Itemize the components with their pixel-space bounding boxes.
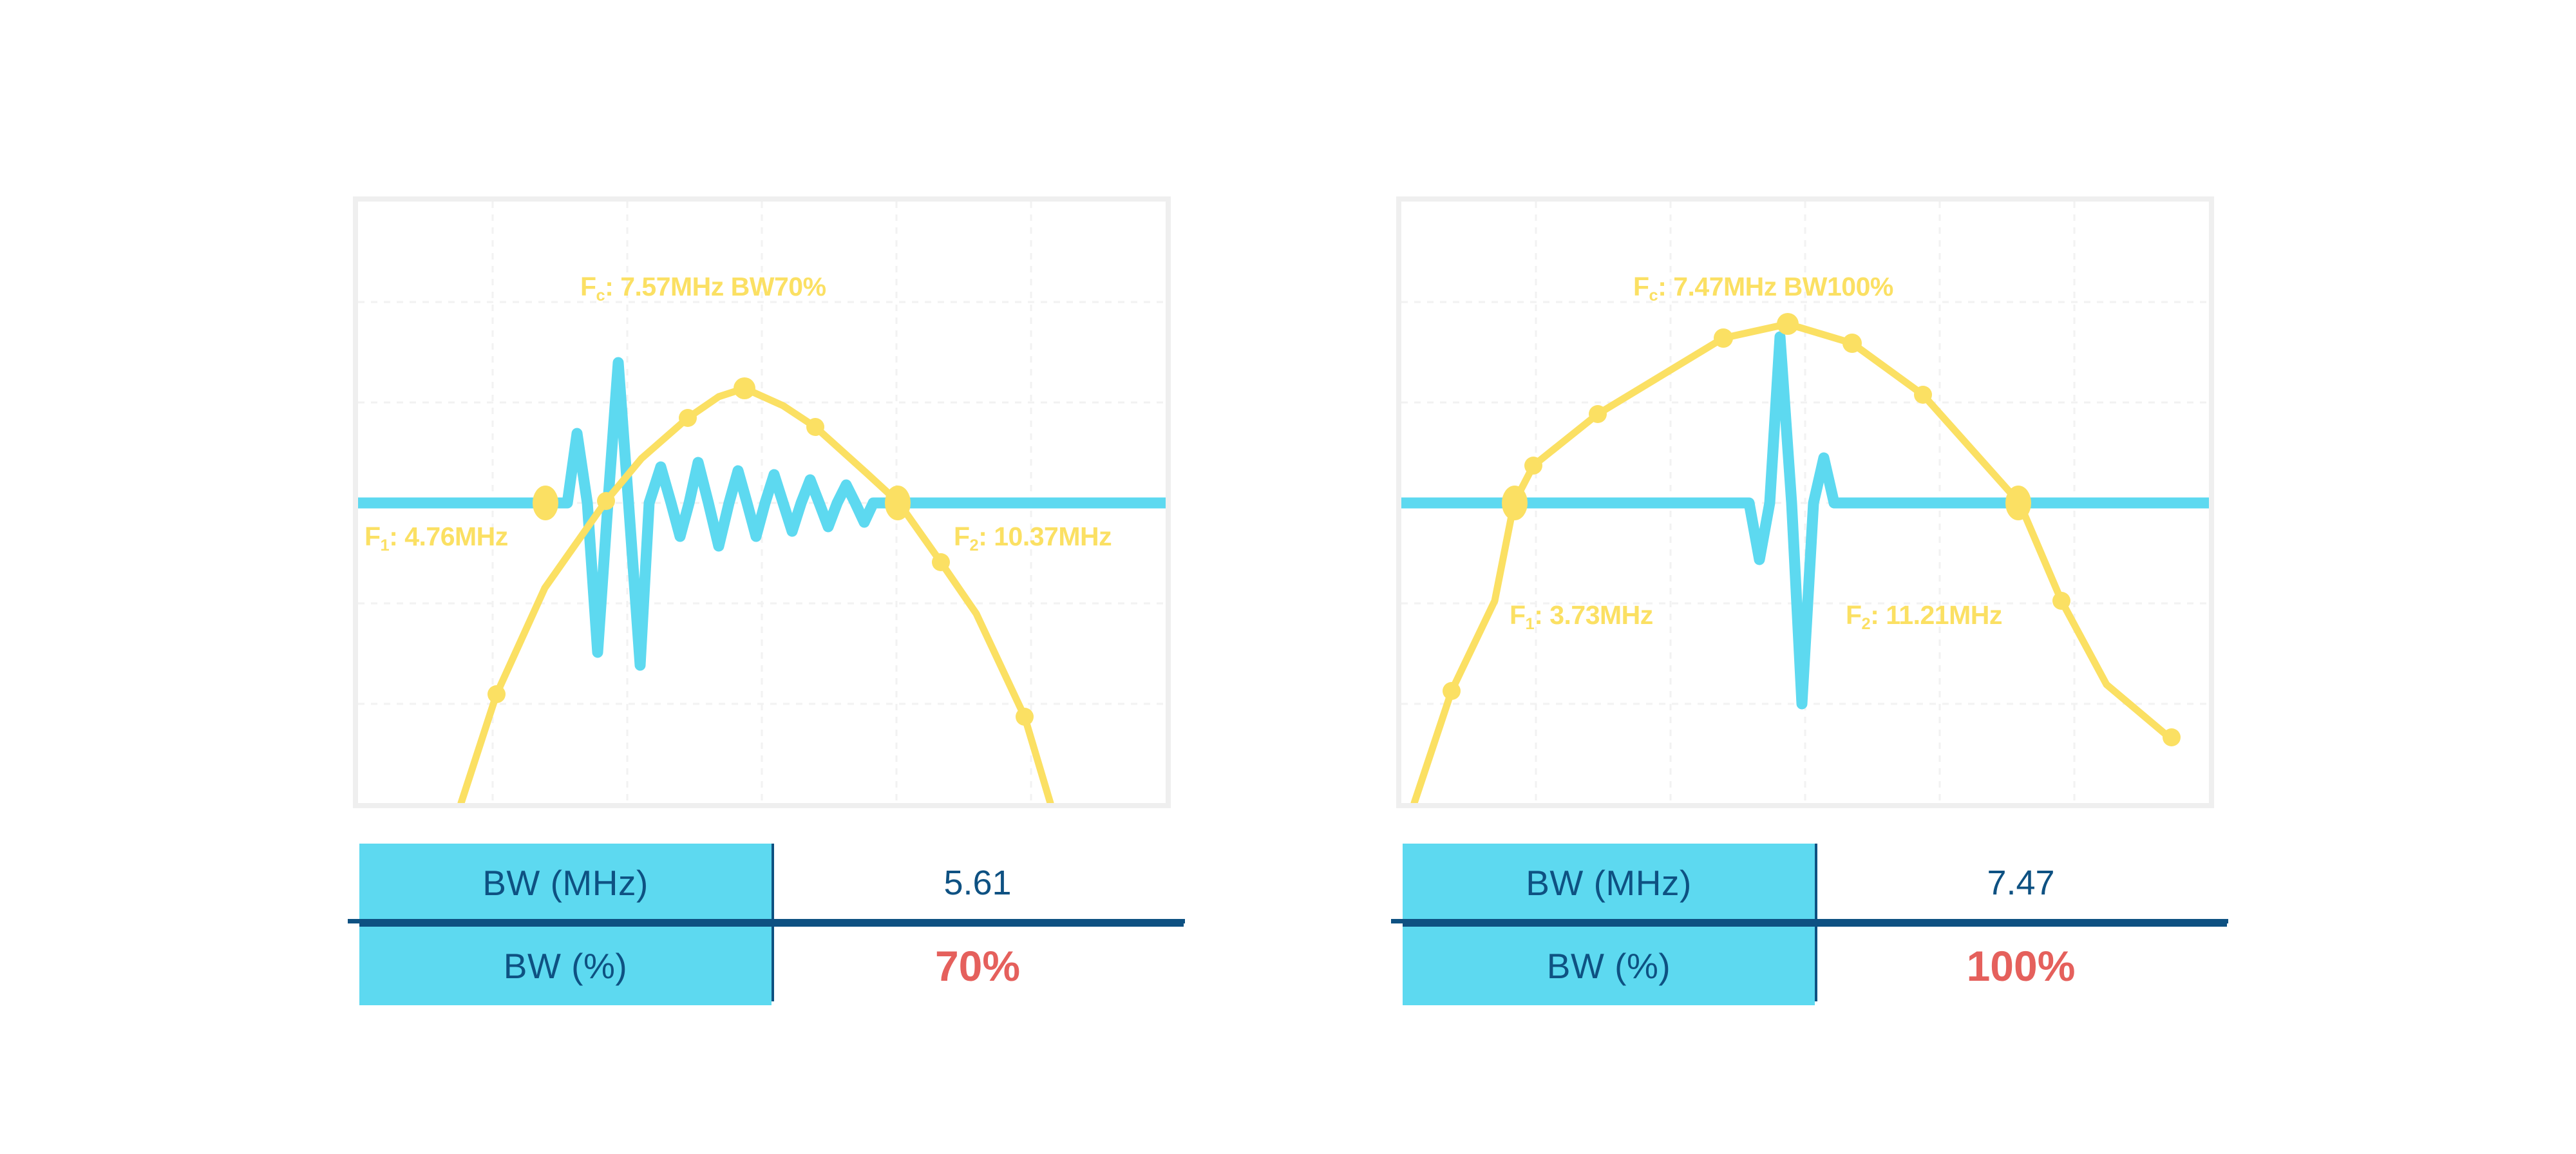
fc-symbol: F (580, 272, 596, 301)
f1-value: : 4.76MHz (389, 522, 508, 551)
bandwidth-comparison-figure: Fc: 7.57MHz BW70% F1: 4.76MHz F2: 10.37M… (0, 0, 2576, 1154)
plot-frame-left: Fc: 7.57MHz BW70% F1: 4.76MHz F2: 10.37M… (353, 196, 1171, 808)
fc-value: : 7.57MHz BW70% (605, 272, 826, 301)
f2-symbol: F (1846, 600, 1862, 630)
f1-value: : 3.73MHz (1534, 600, 1653, 630)
f2-subscript: 2 (970, 536, 979, 554)
annotation-lower-cutoff-left: F1: 4.76MHz (365, 524, 508, 550)
fc-symbol: F (1633, 272, 1649, 301)
bw-mhz-value: 5.61 (772, 844, 1184, 925)
fc-subscript: c (596, 287, 605, 305)
panel-narrowband: Fc: 7.57MHz BW70% F1: 4.76MHz F2: 10.37M… (353, 196, 1171, 808)
annotation-lower-cutoff-right: F1: 3.73MHz (1510, 602, 1653, 629)
f1-symbol: F (1510, 600, 1526, 630)
table-divider-right (1391, 919, 2228, 923)
annotation-center-frequency-left: Fc: 7.57MHz BW70% (580, 274, 826, 300)
fc-subscript: c (1649, 287, 1658, 305)
bw-percent-value: 100% (1815, 925, 2227, 1006)
annotation-upper-cutoff-right: F2: 11.21MHz (1846, 602, 2002, 629)
bw-percent-label: BW (%) (359, 925, 772, 1006)
f2-symbol: F (954, 522, 970, 551)
f1-subscript: 1 (1526, 615, 1535, 633)
spectrum-curve-left (461, 388, 1050, 803)
f2-value: : 11.21MHz (1870, 600, 2002, 630)
bw-percent-label: BW (%) (1403, 925, 1815, 1006)
panel-broadband: Fc: 7.47MHz BW100% F1: 3.73MHz F2: 11.21… (1396, 196, 2214, 808)
bw-mhz-label: BW (MHz) (1403, 844, 1815, 925)
table-column-separator-right (1815, 844, 1817, 1001)
table-divider-left (348, 919, 1185, 923)
bw-percent-value: 70% (772, 925, 1184, 1006)
f2-value: : 10.37MHz (978, 522, 1112, 551)
fc-value: : 7.47MHz BW100% (1658, 272, 1893, 301)
annotation-upper-cutoff-left: F2: 10.37MHz (954, 524, 1112, 550)
bw-mhz-label: BW (MHz) (359, 844, 772, 925)
plot-frame-right: Fc: 7.47MHz BW100% F1: 3.73MHz F2: 11.21… (1396, 196, 2214, 808)
f1-subscript: 1 (381, 536, 390, 554)
bw-mhz-value: 7.47 (1815, 844, 2227, 925)
f2-subscript: 2 (1862, 615, 1871, 633)
f1-symbol: F (365, 522, 381, 551)
annotation-center-frequency-right: Fc: 7.47MHz BW100% (1633, 274, 1893, 300)
table-column-separator-left (772, 844, 774, 1001)
